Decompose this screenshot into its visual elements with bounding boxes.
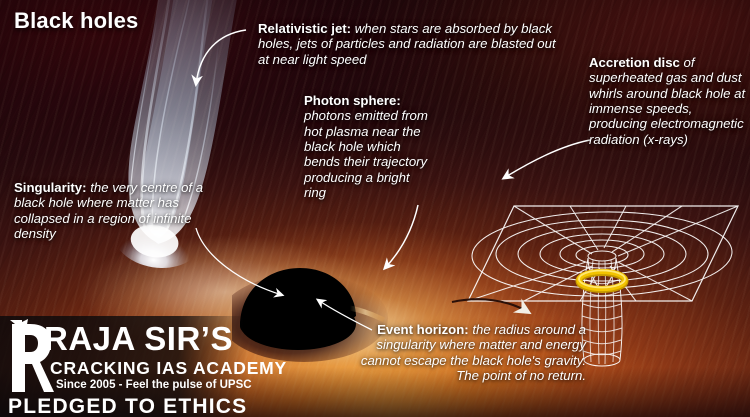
- caption-term-relativistic-jet: Relativistic jet:: [258, 21, 351, 36]
- page-title: Black holes: [14, 8, 138, 34]
- academy-logo: RAJA SIR’S CRACKING IAS ACADEMY Since 20…: [0, 316, 248, 417]
- caption-term-accretion-disc: Accretion disc: [589, 55, 680, 70]
- caption-term-event-horizon: Event horizon:: [377, 322, 469, 337]
- logo-motto: PLEDGED TO ETHICS: [8, 395, 247, 417]
- logo-subtitle: CRACKING IAS ACADEMY: [50, 358, 287, 379]
- caption-photon-sphere: Photon sphere: photons emitted from hot …: [304, 93, 429, 200]
- logo-name: RAJA SIR’S: [44, 322, 233, 355]
- caption-relativistic-jet: Relativistic jet: when stars are absorbe…: [258, 21, 558, 67]
- caption-accretion-disc: Accretion disc of superheated gas and du…: [589, 55, 749, 147]
- caption-body-photon-sphere: photons emitted from hot plasma near the…: [304, 108, 428, 200]
- caption-event-horizon: Event horizon: the radius around a singu…: [336, 322, 586, 383]
- caption-term-singularity: Singularity:: [14, 180, 87, 195]
- caption-singularity: Singularity: the very centre of a black …: [14, 180, 232, 241]
- infographic-canvas: Black holes Relativistic jet: when stars…: [0, 0, 750, 417]
- caption-term-photon-sphere: Photon sphere:: [304, 93, 401, 108]
- logo-tagline: Since 2005 - Feel the pulse of UPSC: [56, 379, 252, 391]
